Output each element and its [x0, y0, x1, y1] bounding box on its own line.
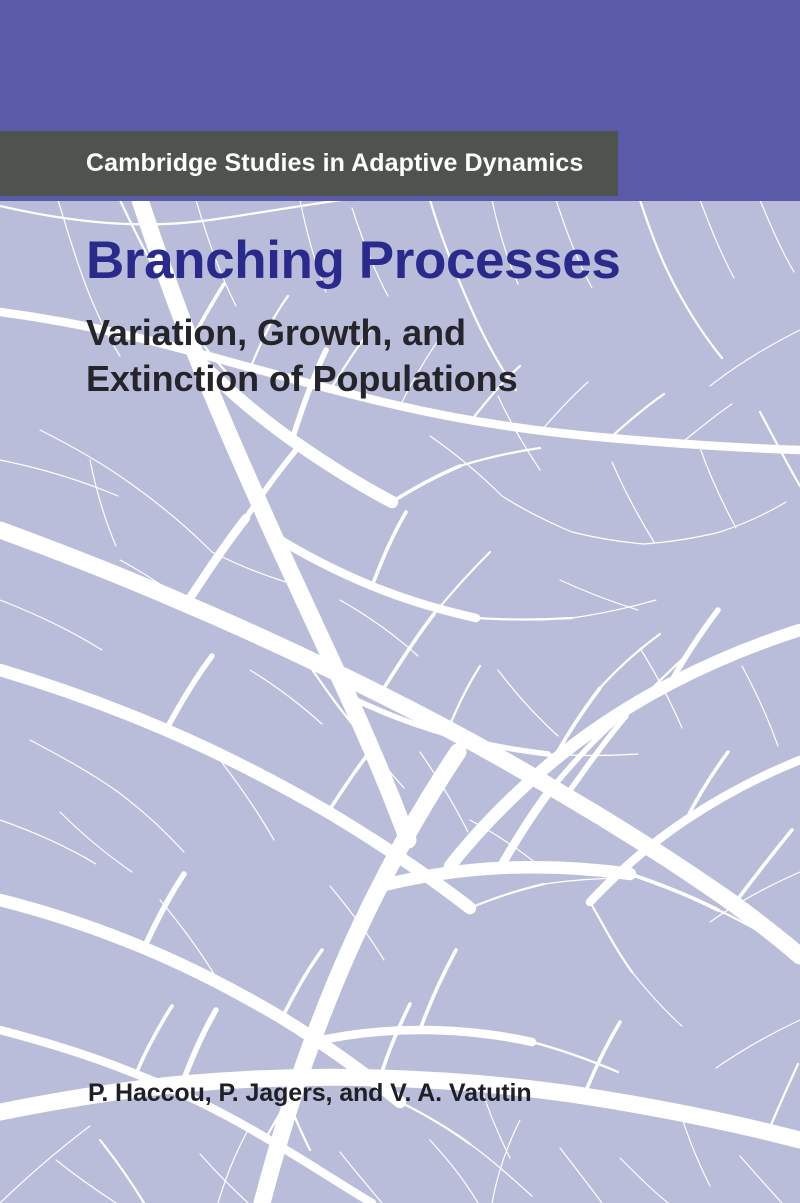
- series-banner: Cambridge Studies in Adaptive Dynamics: [0, 131, 618, 196]
- branch-artwork: .b { fill: none; stroke: #ffffff; stroke…: [0, 200, 800, 1203]
- series-banner-label: Cambridge Studies in Adaptive Dynamics: [86, 151, 583, 176]
- book-cover: .b { fill: none; stroke: #ffffff; stroke…: [0, 0, 800, 1203]
